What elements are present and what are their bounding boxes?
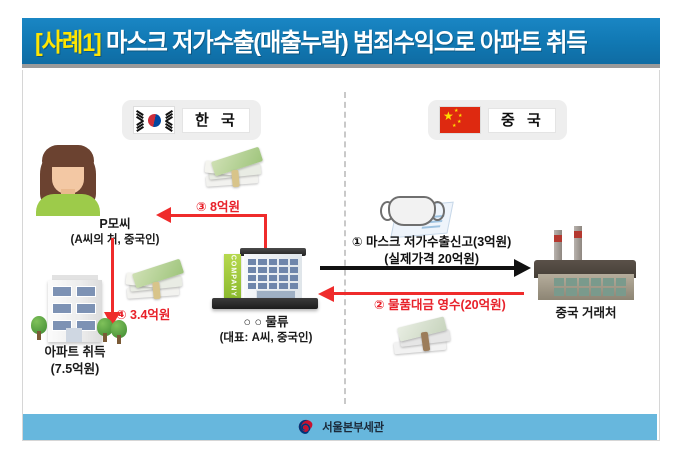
flow-arrow-step3-horizontal	[170, 214, 267, 217]
case-tag: [사례1]	[35, 29, 101, 57]
person-detail: (A씨의 처, 중국인)	[40, 233, 190, 249]
cn-flag-icon: ★ ★ ★ ★ ★	[439, 106, 481, 134]
region-label-china: ★ ★ ★ ★ ★ 중 국	[428, 100, 567, 140]
country-divider	[344, 92, 346, 404]
region-label-korea: 한 국	[122, 100, 261, 140]
node-label-apartment: 아파트 취득 (7.5억원)	[20, 344, 130, 378]
region-label-china-text: 중 국	[488, 108, 556, 133]
flow-arrowhead-step3	[156, 207, 171, 223]
woman-avatar-icon	[30, 142, 106, 214]
factory-icon	[528, 240, 644, 302]
flow-label-step1: ① 마스크 저가수출신고(3억원) (실제가격 20억원)	[352, 234, 511, 268]
footer-bar: 서울본부세관	[23, 414, 657, 440]
apartment-detail: (7.5억원)	[20, 361, 130, 378]
korea-gov-taegeuk-logo	[296, 418, 315, 437]
company-name: ○ ○ 물류	[196, 314, 336, 331]
slide-page: [사례1] 마스크 저가수출(매출누락) 범죄수익으로 아파트 취득 한 국	[0, 0, 680, 465]
won-cash-icon	[125, 262, 187, 304]
footer-label: 서울본부세관	[322, 419, 384, 435]
office-building-icon: COMPANY	[210, 246, 322, 312]
page-title: [사례1] 마스크 저가수출(매출누락) 범죄수익으로 아파트 취득	[22, 23, 587, 59]
company-banner-text: COMPANY	[229, 255, 236, 297]
node-label-factory: 중국 거래처	[520, 302, 652, 321]
won-cash-icon	[204, 150, 266, 192]
flow-arrow-step2	[334, 292, 524, 295]
slide-title-bar: [사례1] 마스크 저가수출(매출누락) 범죄수익으로 아파트 취득	[22, 18, 660, 68]
flow-step1-line1: ① 마스크 저가수출신고(3억원)	[352, 234, 511, 251]
region-label-korea-text: 한 국	[182, 108, 250, 133]
flow-label-step2: ② 물품대금 영수(20억원)	[374, 297, 506, 314]
flow-step1-line2: (실제가격 20억원)	[352, 251, 511, 268]
company-detail: (대표: A씨, 중국인)	[196, 331, 336, 347]
flow-arrowhead-step2	[318, 286, 334, 302]
node-label-company: ○ ○ 물류 (대표: A씨, 중국인)	[196, 314, 336, 346]
title-main-text: 마스크 저가수출(매출누락) 범죄수익으로 아파트 취득	[106, 29, 587, 57]
apartment-building-icon	[22, 272, 126, 346]
dollar-cash-icon	[392, 318, 466, 370]
mask-document-icon	[378, 192, 452, 236]
company-banner: COMPANY	[224, 254, 241, 298]
kr-flag-icon	[133, 106, 175, 134]
apartment-name: 아파트 취득	[20, 344, 130, 361]
flow-label-step3: ③ 8억원	[196, 196, 240, 215]
